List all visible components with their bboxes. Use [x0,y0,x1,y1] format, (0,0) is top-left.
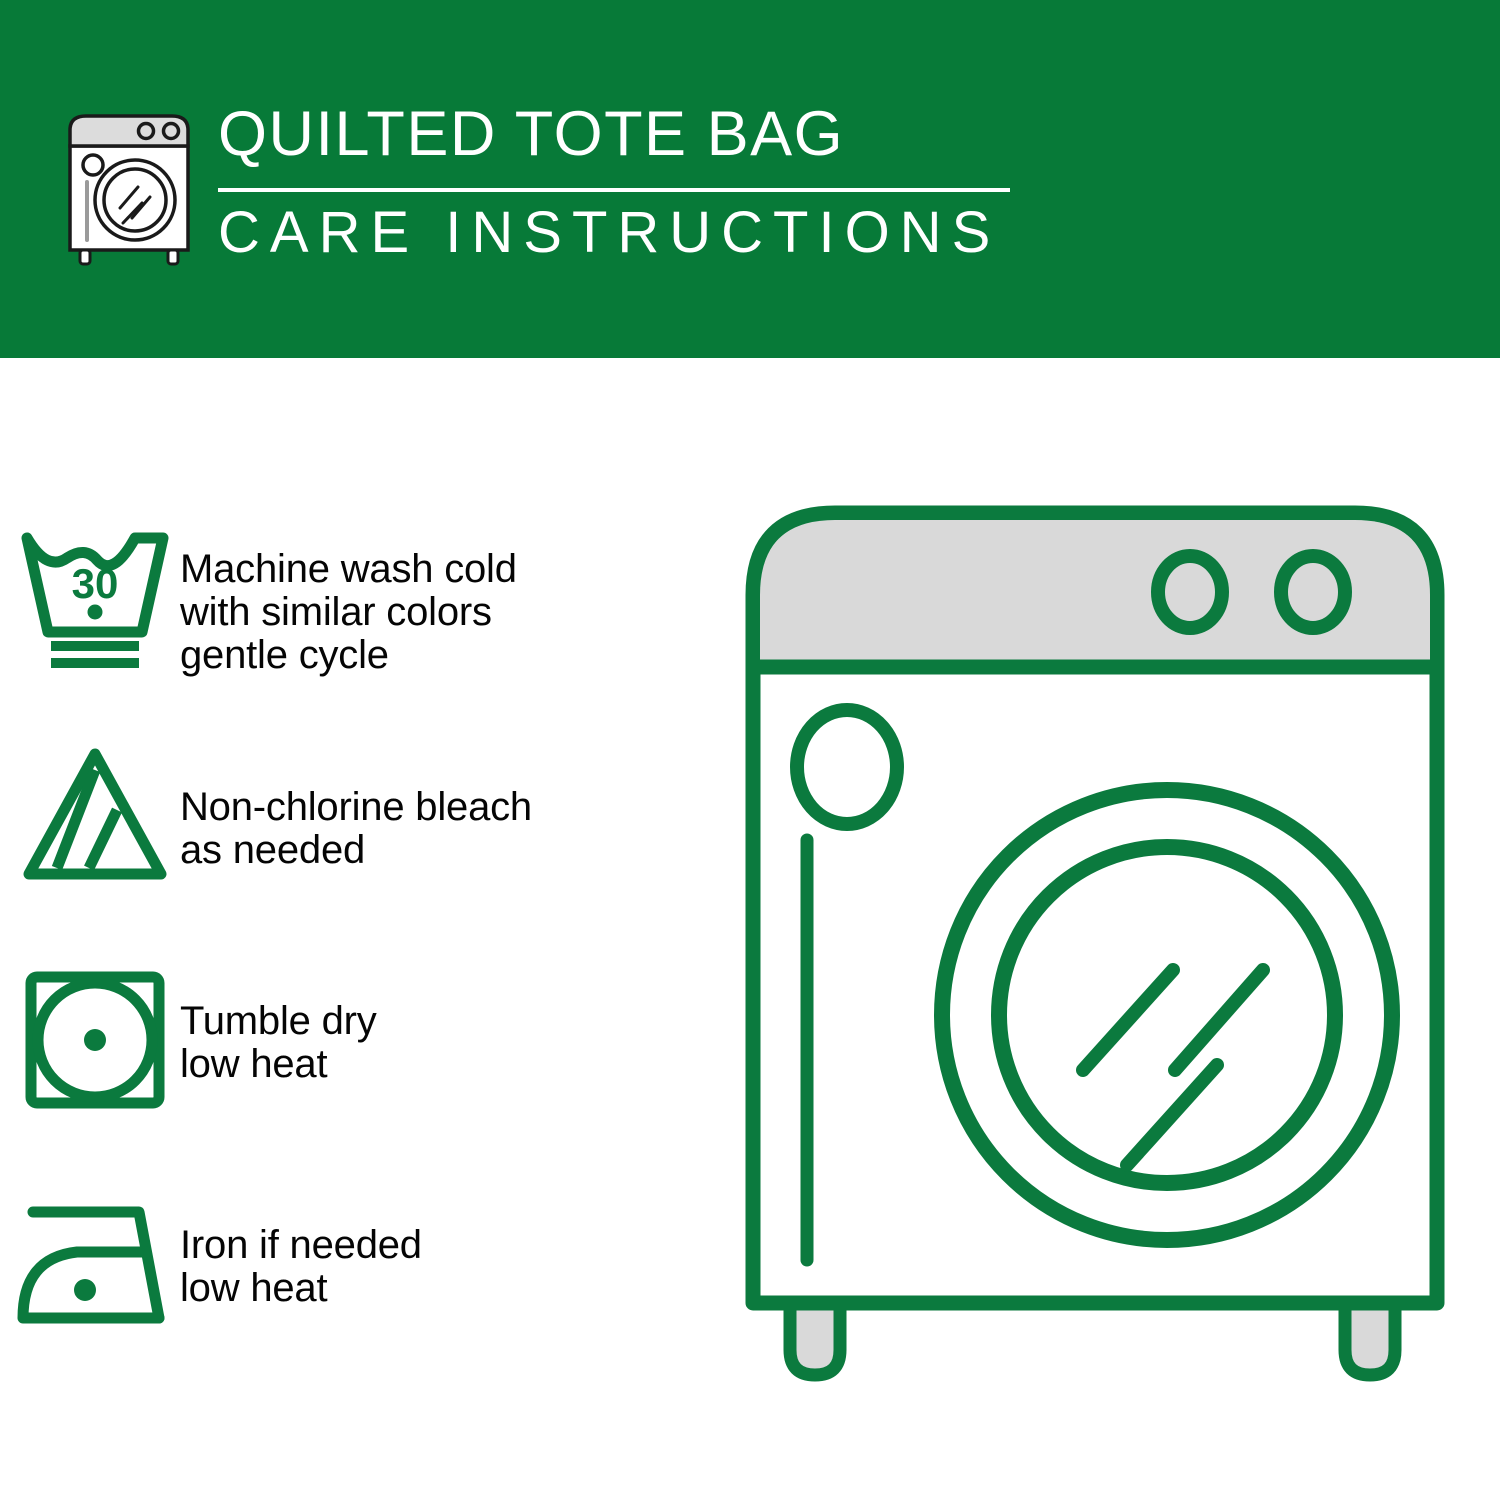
front-load-washing-machine-illustration [735,495,1455,1425]
care-text-bleach: Non-chlorine bleach as needed [180,740,532,872]
non-chlorine-bleach-triangle-icon [0,740,180,890]
iron-low-heat-icon [0,1190,180,1340]
care-text-tumble-dry: Tumble dry low heat [180,965,377,1086]
control-panel [760,520,1430,667]
care-text-machine-wash: Machine wash cold with similar colors ge… [180,520,517,677]
page-subtitle: CARE INSTRUCTIONS [218,199,1000,267]
header-text-block: QUILTED TOTE BAG [218,96,1018,172]
washing-machine-icon [60,108,205,268]
care-text-iron: Iron if needed low heat [180,1190,422,1310]
care-row-tumble-dry: Tumble dry low heat [0,965,720,1115]
leg-left [790,1300,840,1375]
care-instructions-infographic: QUILTED TOTE BAG CARE INSTRUCTIONS 30 [0,0,1500,1500]
care-row-bleach: Non-chlorine bleach as needed [0,740,720,890]
page-title: QUILTED TOTE BAG [218,96,1018,172]
header-band: QUILTED TOTE BAG CARE INSTRUCTIONS [0,0,1500,358]
wash-basin-30-icon: 30 [0,520,180,670]
leg-right [1345,1300,1395,1375]
header-divider [218,188,1010,192]
care-row-iron: Iron if needed low heat [0,1190,720,1340]
wash-temperature-label: 30 [72,560,119,607]
care-row-machine-wash: 30 Machine wash cold with similar colors… [0,520,720,677]
tumble-dry-low-icon [0,965,180,1115]
